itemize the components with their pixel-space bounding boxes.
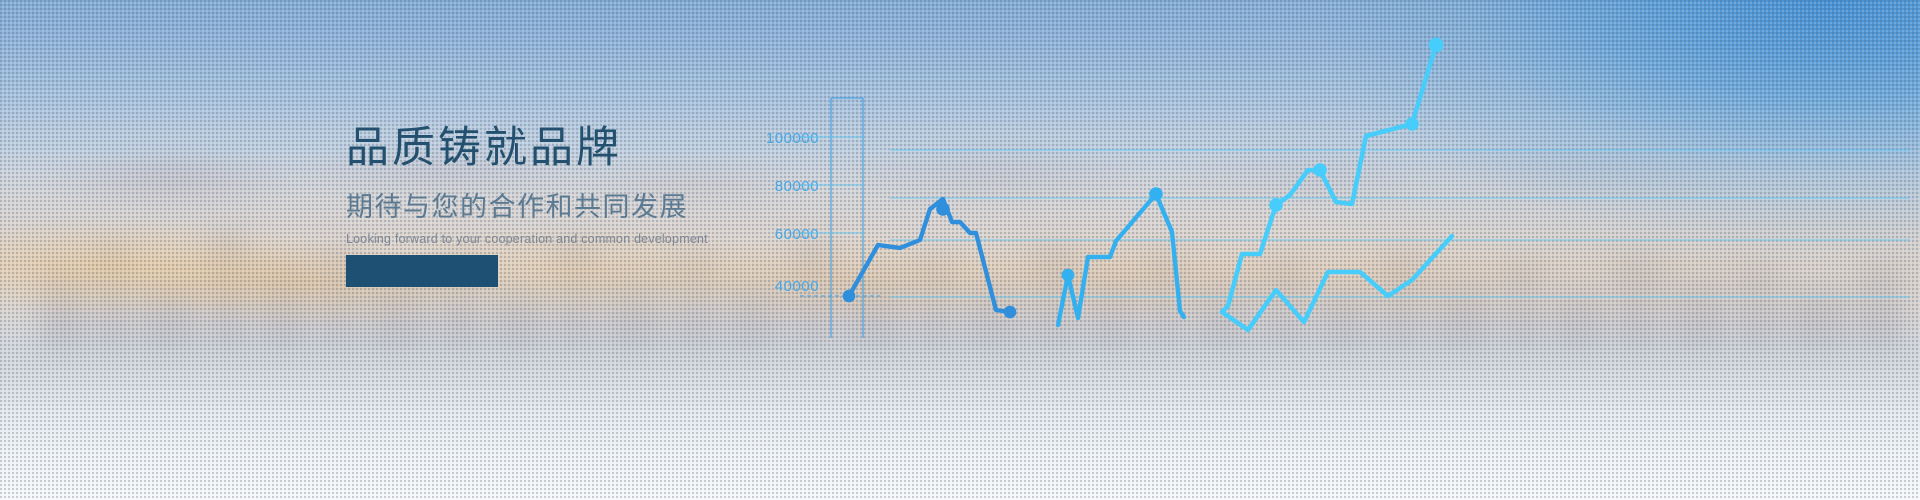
data-point-marker [1004,306,1017,319]
data-point-marker [843,290,856,303]
decorative-line-chart: 100000 80000 60000 40000 [760,0,1920,500]
chart-series-4 [1222,236,1452,330]
data-point-marker [1405,117,1419,131]
chart-series-2 [1058,194,1184,325]
chart-svg: 100000 80000 60000 40000 [760,0,1920,500]
y-tick-label: 100000 [766,130,819,147]
data-point-marker [1313,163,1327,177]
chart-axis [831,98,863,338]
chart-y-axis-labels: 100000 80000 60000 40000 [766,130,819,295]
y-tick-label: 40000 [775,278,819,295]
data-point-marker [1149,187,1163,201]
data-point-marker [1062,269,1075,282]
y-tick-label: 60000 [775,226,819,243]
y-tick-label: 80000 [775,178,819,195]
data-point-marker [936,202,950,216]
data-point-marker [1269,198,1283,212]
cta-button[interactable] [346,255,498,287]
hero-banner: 品质铸就品牌 期待与您的合作和共同发展 Looking forward to y… [0,0,1920,500]
data-point-marker [1429,38,1444,53]
chart-series-1 [849,199,1010,312]
